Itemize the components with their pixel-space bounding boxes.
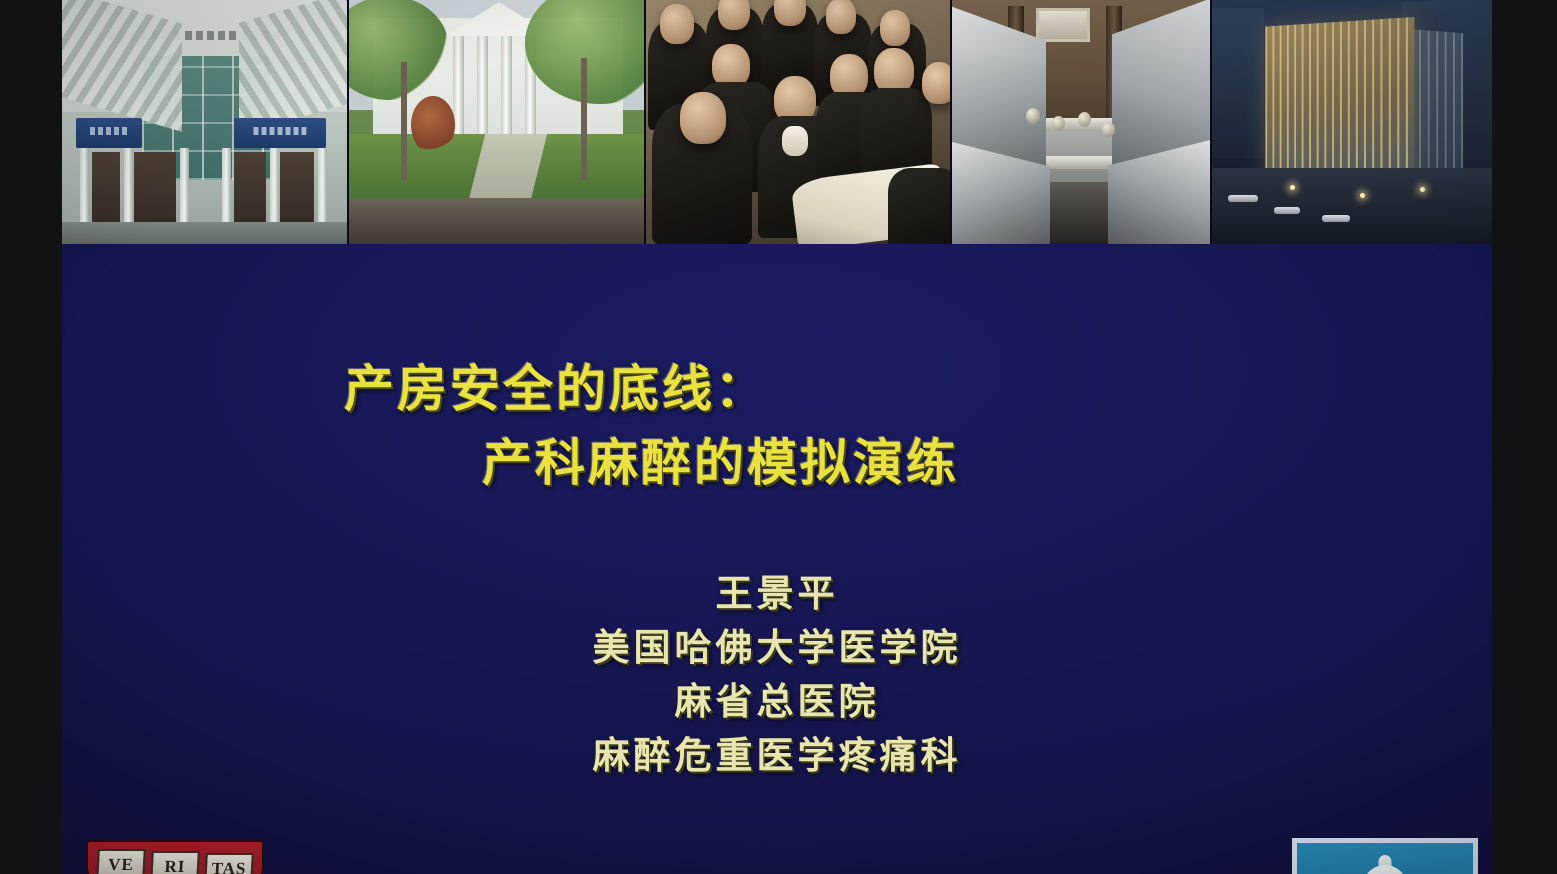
- affiliation-school: 美国哈佛大学医学院: [62, 622, 1492, 676]
- letterbox-bar-right: [1492, 0, 1557, 874]
- presentation-slide: 产房安全的底线： 产科麻醉的模拟演练 王景平 美国哈佛大学医学院 麻省总医院 麻…: [62, 0, 1492, 874]
- author-affiliation-block: 王景平 美国哈佛大学医学院 麻省总医院 麻醉危重医学疼痛科: [62, 568, 1492, 784]
- author-name: 王景平: [62, 568, 1492, 622]
- harvard-veritas-shield-icon: VE RI TAS: [86, 834, 264, 874]
- affiliation-department: 麻醉危重医学疼痛科: [62, 730, 1492, 784]
- entrance-awning-right: [234, 118, 326, 148]
- photo-strip: [62, 0, 1492, 244]
- veritas-book-1: VE: [96, 849, 146, 874]
- slide-title: 产房安全的底线： 产科麻醉的模拟演练: [62, 352, 1492, 500]
- mass-general-hospital-logo-icon: [1292, 834, 1478, 874]
- photo-lunder-glass-tower: [1212, 0, 1492, 244]
- photo-mgh-main-entrance: [62, 0, 349, 244]
- photo-ether-day-first-anesthesia: [646, 0, 952, 244]
- title-line-1: 产房安全的底线：: [62, 352, 1492, 426]
- letterbox-bar-left: [0, 0, 62, 874]
- entrance-awning-left: [76, 118, 142, 148]
- video-player-frame: 产房安全的底线： 产科麻醉的模拟演练 王景平 美国哈佛大学医学院 麻省总医院 麻…: [0, 0, 1557, 874]
- photo-ether-dome-amphitheatre: [952, 0, 1212, 244]
- wall-painting: [1036, 8, 1090, 42]
- veritas-book-3: TAS: [204, 853, 254, 874]
- title-line-2: 产科麻醉的模拟演练: [62, 426, 1492, 500]
- bulfinch-dome-icon: [1359, 865, 1411, 874]
- veritas-book-2: RI: [150, 851, 200, 874]
- photo-harvard-colonial-building: [349, 0, 646, 244]
- affiliation-hospital: 麻省总医院: [62, 676, 1492, 730]
